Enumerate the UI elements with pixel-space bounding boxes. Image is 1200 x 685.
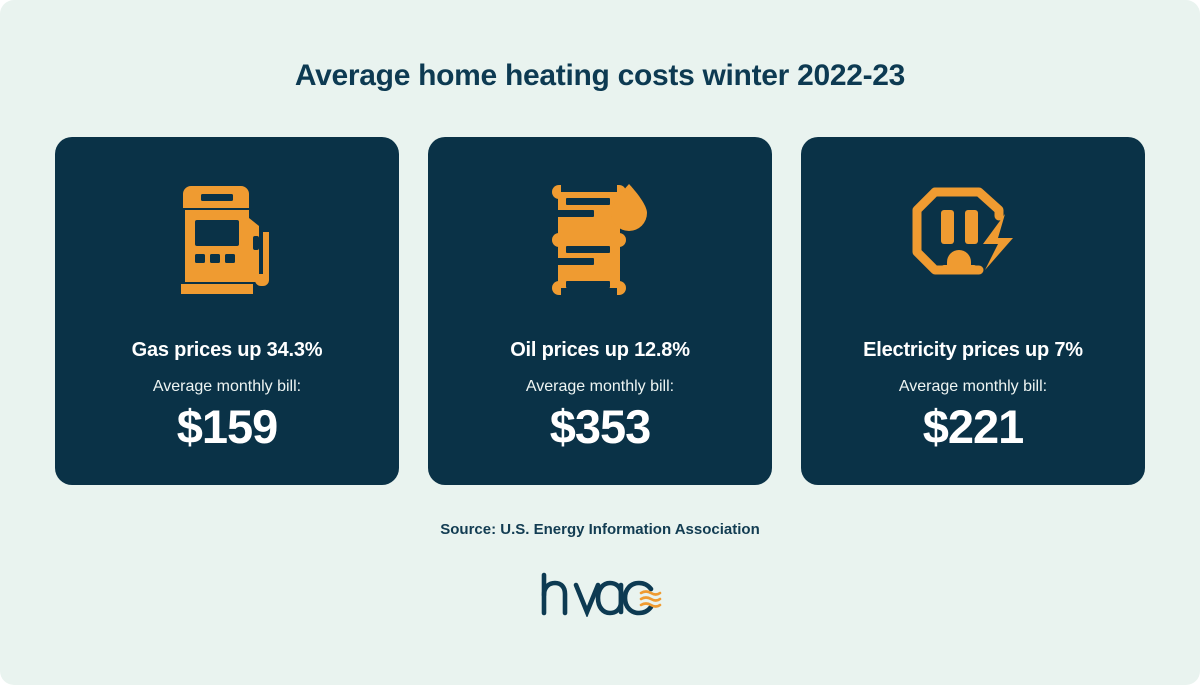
card-heading: Oil prices up 12.8% [510, 339, 690, 362]
card-heading: Gas prices up 34.3% [132, 339, 323, 362]
airflow-waves-icon [641, 592, 660, 607]
card-heading: Electricity prices up 7% [863, 339, 1083, 362]
hvac-logo[interactable] [0, 571, 1200, 617]
card-subtitle: Average monthly bill: [153, 378, 301, 396]
card-amount: $221 [923, 402, 1024, 451]
source-attribution: Source: U.S. Energy Information Associat… [0, 521, 1200, 538]
electric-outlet-icon [905, 180, 1041, 305]
page-title: Average home heating costs winter 2022-2… [0, 0, 1200, 94]
card-amount: $353 [550, 402, 651, 451]
stat-card-electricity: Electricity prices up 7% Average monthly… [801, 137, 1145, 485]
stat-card-list: Gas prices up 34.3% Average monthly bill… [0, 137, 1200, 485]
stat-card-oil: Oil prices up 12.8% Average monthly bill… [428, 137, 772, 485]
card-icon-wrapper [905, 167, 1041, 317]
card-amount: $159 [177, 402, 278, 451]
card-subtitle: Average monthly bill: [526, 378, 674, 396]
card-icon-wrapper [177, 167, 277, 317]
infographic-canvas: Average home heating costs winter 2022-2… [0, 0, 1200, 685]
card-icon-wrapper [544, 167, 656, 317]
gas-pump-icon [177, 180, 277, 305]
stat-card-gas: Gas prices up 34.3% Average monthly bill… [55, 137, 399, 485]
oil-barrel-icon [544, 180, 656, 305]
card-subtitle: Average monthly bill: [899, 378, 1047, 396]
